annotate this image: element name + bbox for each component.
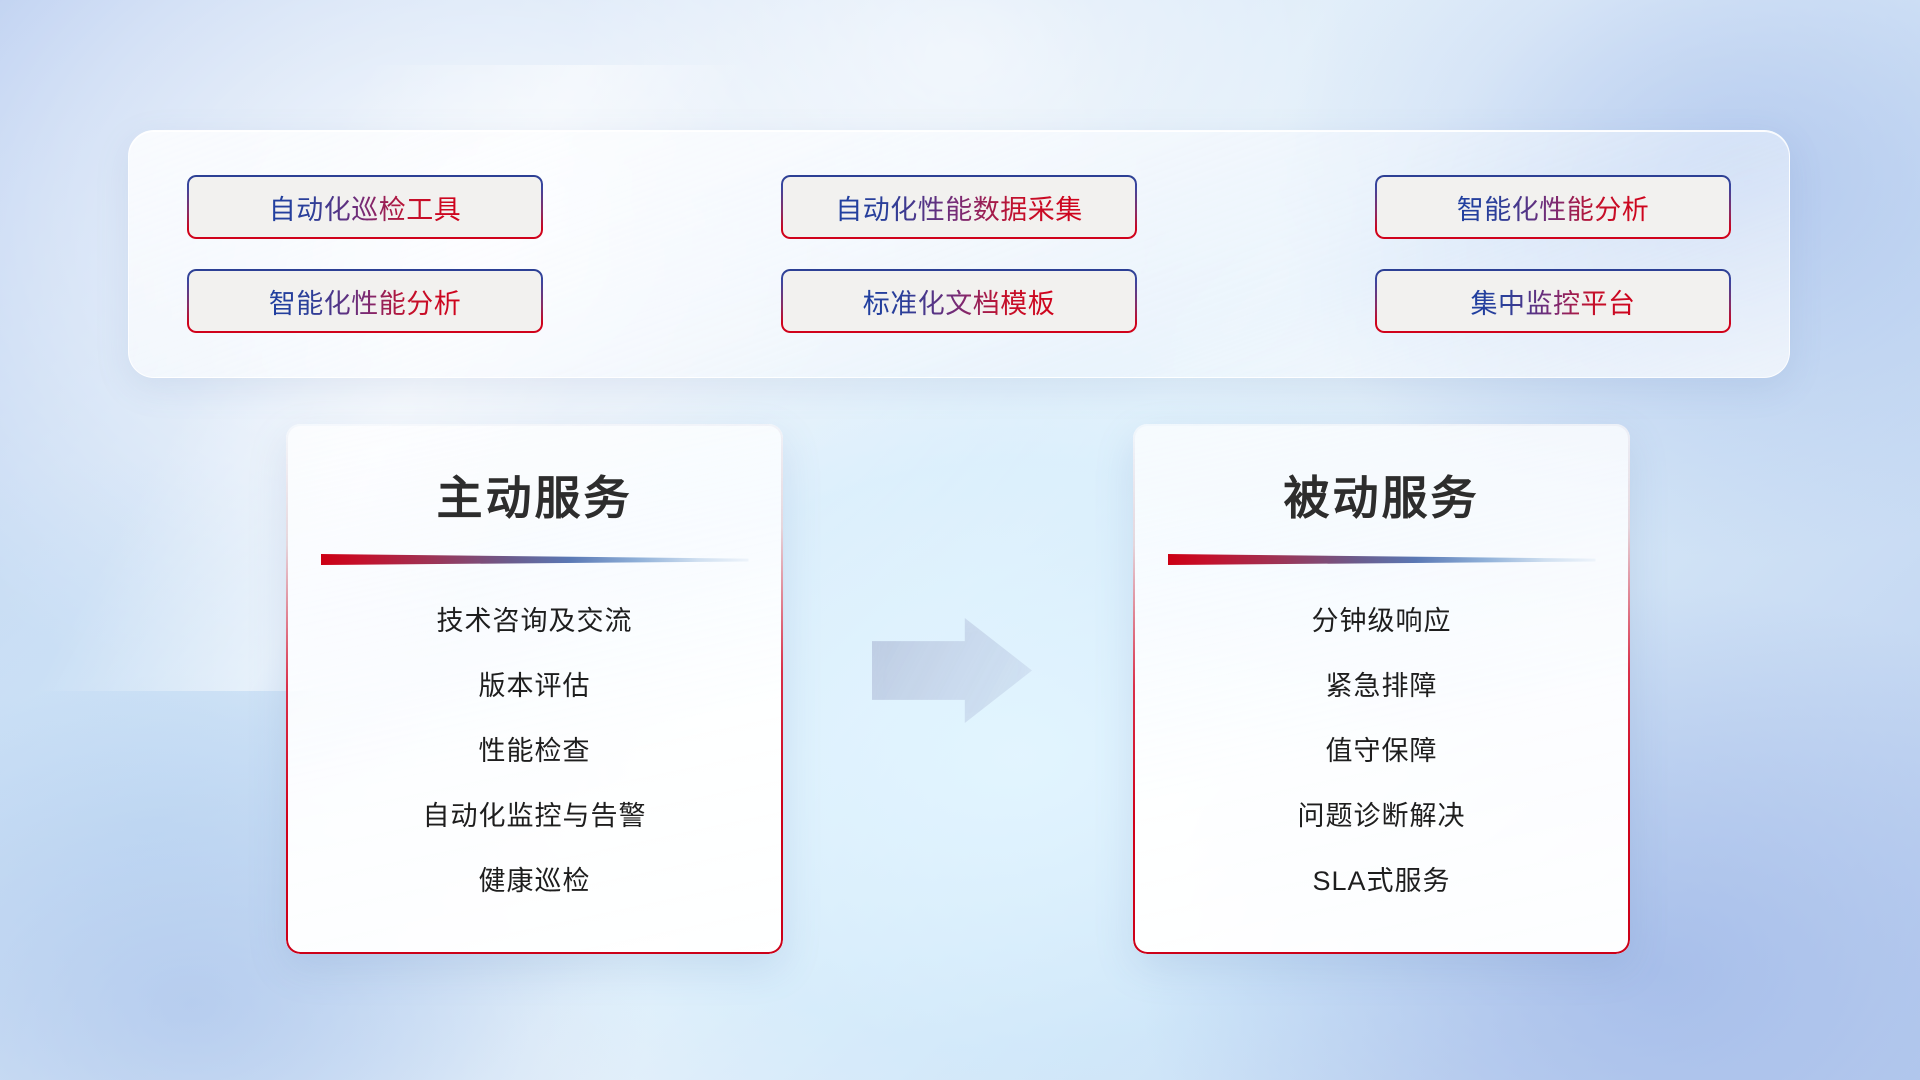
capability-pill-label: 标准化文档模板 (863, 282, 1056, 321)
list-item: 性能检查 (479, 729, 591, 768)
active-service-divider (321, 554, 749, 565)
capability-pill-label: 自动化巡检工具 (269, 188, 462, 227)
capability-pill-intelligent-performance-analysis-2[interactable]: 智能化性能分析 (187, 269, 543, 333)
list-item: 版本评估 (479, 664, 591, 703)
passive-service-card-body: 被动服务 分钟级响应 紧急排障 值守保障 问题诊断解决 SLA式服务 (1133, 424, 1630, 954)
passive-service-list: 分钟级响应 紧急排障 值守保障 问题诊断解决 SLA式服务 (1133, 599, 1630, 898)
list-item: SLA式服务 (1312, 859, 1450, 898)
active-service-card: 主动服务 技术咨询及交流 版本评估 性能检查 自动化监控与告警 健康巡检 (286, 424, 783, 954)
list-item: 问题诊断解决 (1298, 794, 1466, 833)
active-service-title: 主动服务 (437, 462, 633, 528)
capability-pill-label: 自动化性能数据采集 (835, 188, 1083, 227)
capability-pill-label: 智能化性能分析 (269, 282, 462, 321)
capability-pill-automation-performance-data-collection[interactable]: 自动化性能数据采集 (781, 175, 1137, 239)
capability-pill-centralized-monitoring-platform[interactable]: 集中监控平台 (1375, 269, 1731, 333)
capability-pill-intelligent-performance-analysis-1[interactable]: 智能化性能分析 (1375, 175, 1731, 239)
capability-pill-standardized-document-template[interactable]: 标准化文档模板 (781, 269, 1137, 333)
passive-service-title: 被动服务 (1284, 462, 1480, 528)
list-item: 值守保障 (1326, 729, 1438, 768)
list-item: 技术咨询及交流 (437, 599, 633, 638)
active-service-list: 技术咨询及交流 版本评估 性能检查 自动化监控与告警 健康巡检 (286, 599, 783, 898)
list-item: 紧急排障 (1326, 664, 1438, 703)
capability-pill-label: 智能化性能分析 (1457, 188, 1650, 227)
active-service-card-body: 主动服务 技术咨询及交流 版本评估 性能检查 自动化监控与告警 健康巡检 (286, 424, 783, 954)
list-item: 自动化监控与告警 (423, 794, 647, 833)
capability-pill-automation-inspection-tool[interactable]: 自动化巡检工具 (187, 175, 543, 239)
capability-row-2: 智能化性能分析 标准化文档模板 集中监控平台 (187, 269, 1731, 333)
list-item: 分钟级响应 (1312, 599, 1452, 638)
list-item: 健康巡检 (479, 859, 591, 898)
passive-service-divider (1168, 554, 1596, 565)
passive-service-card: 被动服务 分钟级响应 紧急排障 值守保障 问题诊断解决 SLA式服务 (1133, 424, 1630, 954)
capability-row-1: 自动化巡检工具 自动化性能数据采集 智能化性能分析 (187, 175, 1731, 239)
capability-panel: 自动化巡检工具 自动化性能数据采集 智能化性能分析 智能化性能分析 标准化文档模… (128, 130, 1790, 378)
capability-pill-label: 集中监控平台 (1471, 282, 1636, 321)
